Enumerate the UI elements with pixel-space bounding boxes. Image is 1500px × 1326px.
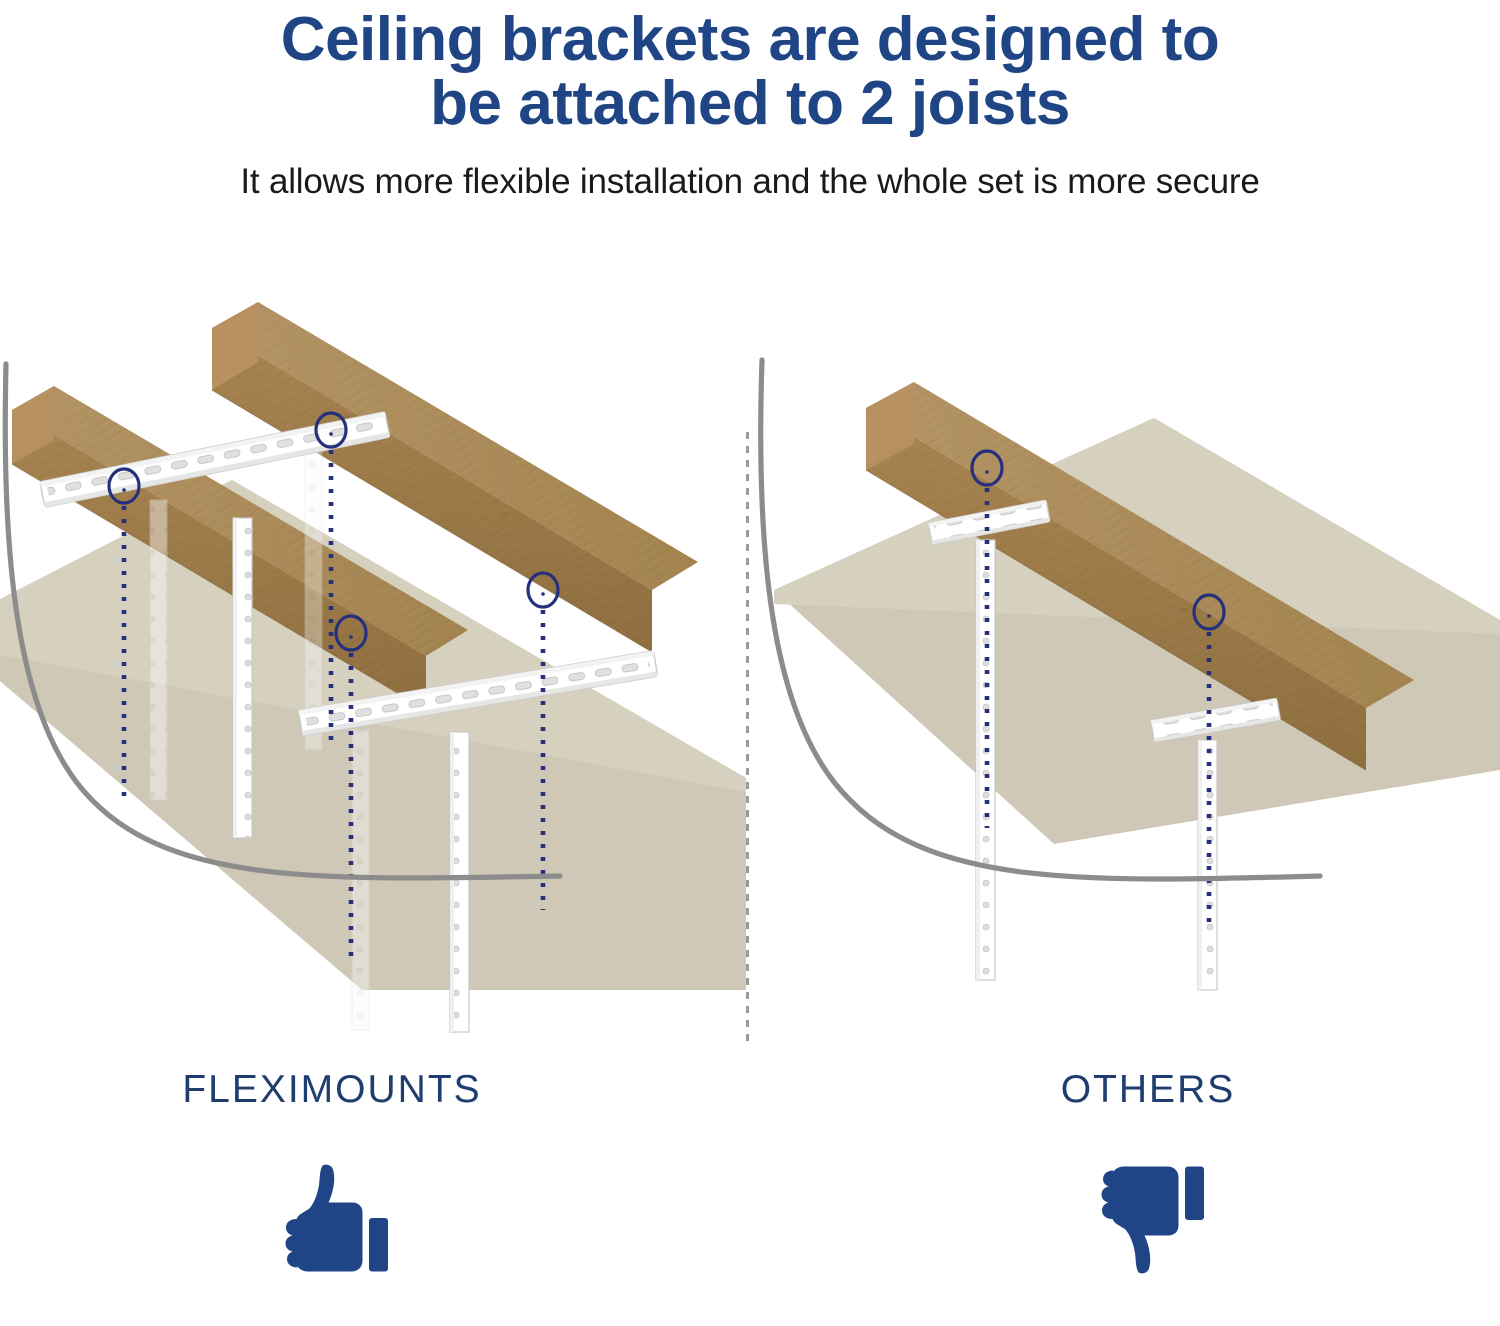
bracket-post-lower: [450, 732, 469, 1032]
others-illustration: [754, 300, 1500, 1070]
verdict-others: OTHERS: [818, 1070, 1478, 1281]
center-divider: [746, 432, 749, 1042]
bracket-post-ghost-a: [150, 500, 167, 800]
fleximounts-illustration: [0, 300, 746, 1070]
thumbs-down-wrap: [818, 1161, 1478, 1281]
panel-fleximounts: [0, 300, 746, 1070]
brand-label-fleximounts: FLEXIMOUNTS: [2, 1070, 662, 1109]
bracket-post-ghost-b: [305, 450, 322, 750]
page-title-line-2: be attached to 2 joists: [160, 72, 1340, 136]
verdict-fleximounts: FLEXIMOUNTS: [2, 1070, 662, 1281]
verdict-footer: FLEXIMOUNTS OTHERS: [0, 1070, 1500, 1326]
page-title-line-1: Ceiling brackets are designed to: [160, 8, 1340, 72]
page-title: Ceiling brackets are designed to be atta…: [160, 8, 1340, 136]
panel-others: [754, 300, 1500, 1070]
thumbs-down-icon: [1092, 1161, 1204, 1277]
infographic-page: Ceiling brackets are designed to be atta…: [0, 0, 1500, 1326]
bracket-post-upper: [233, 518, 252, 838]
page-subtitle: It allows more flexible installation and…: [0, 162, 1500, 202]
header: Ceiling brackets are designed to be atta…: [0, 0, 1500, 202]
thumbs-up-wrap: [2, 1161, 662, 1281]
comparison-area: [0, 300, 1500, 1070]
thumbs-up-icon: [276, 1161, 388, 1277]
brand-label-others: OTHERS: [818, 1070, 1478, 1109]
